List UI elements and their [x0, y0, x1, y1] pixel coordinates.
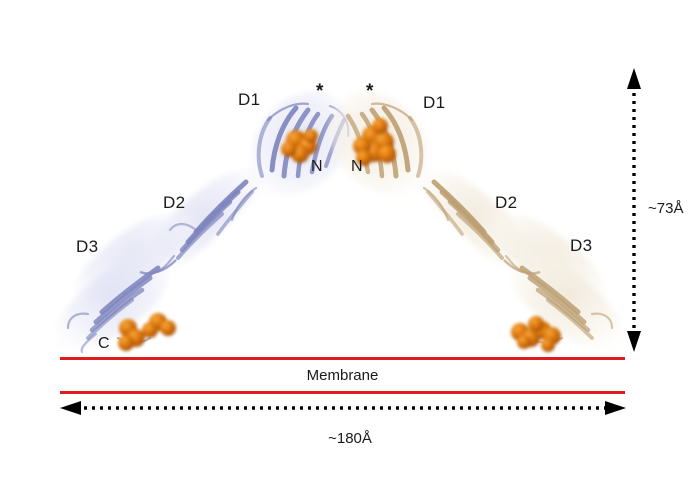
label-d2-right: D2 — [495, 193, 517, 213]
width-dimension-label: ~180Å — [0, 430, 700, 447]
label-n-terminus-left: N — [311, 158, 323, 176]
membrane-label: Membrane — [60, 367, 625, 384]
membrane-line-bottom — [60, 391, 625, 394]
label-c-terminus-left: C — [98, 335, 110, 353]
label-n-terminus-right: N — [351, 158, 363, 176]
label-d1-left: D1 — [238, 90, 260, 110]
structure-figure: D1 D2 D3 D1 D2 D3 N N C * * Membrane ~73… — [0, 0, 700, 484]
label-d3-right: D3 — [570, 236, 592, 256]
asterisk-marker-left: * — [316, 82, 324, 101]
label-d2-left: D2 — [163, 193, 185, 213]
label-d3-left: D3 — [76, 237, 98, 257]
asterisk-marker-right: * — [366, 82, 374, 101]
membrane-line-top — [60, 357, 625, 360]
molecular-structure-canvas — [0, 0, 700, 484]
height-dimension-label: ~73Å — [648, 200, 683, 217]
label-d1-right: D1 — [423, 93, 445, 113]
